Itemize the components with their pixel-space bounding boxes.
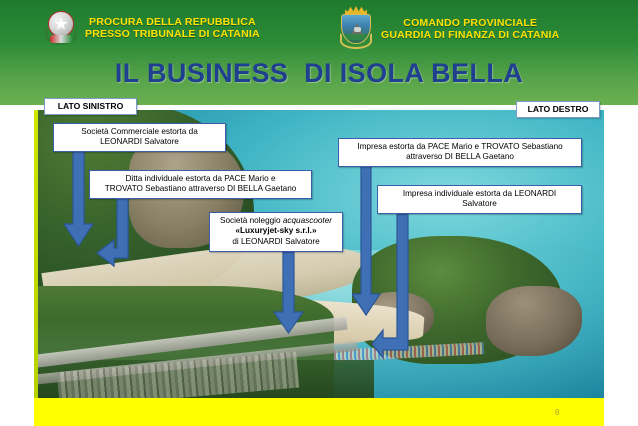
slide-canvas: PROCURA DELLA REPUBBLICA PRESSO TRIBUNAL… <box>0 0 638 426</box>
callout-right-1-line-2: attraverso DI BELLA Gaetano <box>344 152 576 162</box>
arrow-left-2 <box>95 196 137 268</box>
guardia-di-finanza-emblem-icon <box>338 6 374 52</box>
arrow-center <box>272 252 308 336</box>
callout-right-2-line-1: Impresa individuale estorta da LEONARDI <box>383 189 576 199</box>
tag-lato-sinistro: LATO SINISTRO <box>44 98 137 115</box>
callout-left-1-line-1: Società Commerciale estorta da <box>59 127 220 137</box>
gdf-org-text: COMANDO PROVINCIALE GUARDIA DI FINANZA D… <box>381 17 559 42</box>
procura-line-1: PROCURA DELLA REPUBBLICA <box>89 16 256 28</box>
procura-org-text: PROCURA DELLA REPUBBLICA PRESSO TRIBUNAL… <box>85 16 260 41</box>
page-number: 8 <box>555 408 559 417</box>
callout-left-ditta-individuale: Ditta individuale estorta da PACE Mario … <box>89 170 312 199</box>
italian-republic-emblem-icon <box>44 8 78 48</box>
page-title: IL BUSINESS DI ISOLA BELLA <box>0 58 638 89</box>
gdf-line-2: GUARDIA DI FINANZA DI CATANIA <box>381 29 559 42</box>
callout-right-1-line-1: Impresa estorta da PACE Mario e TROVATO … <box>344 142 576 152</box>
callout-center-line-1-prefix: Società noleggio <box>220 216 283 225</box>
callout-right-2-line-2: Salvatore <box>383 199 576 209</box>
callout-left-2-line-2: TROVATO Sebastiano attraverso DI BELLA G… <box>95 184 306 194</box>
tag-lato-destro: LATO DESTRO <box>516 101 600 118</box>
callout-left-2-line-1: Ditta individuale estorta da PACE Mario … <box>95 174 306 184</box>
header-group-gdf: COMANDO PROVINCIALE GUARDIA DI FINANZA D… <box>338 6 559 52</box>
callout-center-line-2: «Luxuryjet-sky s.r.l.» <box>215 226 337 236</box>
callout-center-societa-noleggio: Società noleggio acquascooter «Luxuryjet… <box>209 212 343 252</box>
footer-bar <box>34 398 604 426</box>
procura-line-2: PRESSO TRIBUNALE DI CATANIA <box>85 28 260 41</box>
callout-center-line-3: di LEONARDI Salvatore <box>215 237 337 247</box>
callout-left-societa-commerciale: Società Commerciale estorta da LEONARDI … <box>53 123 226 152</box>
header-group-procura: PROCURA DELLA REPUBBLICA PRESSO TRIBUNAL… <box>44 8 260 48</box>
callout-right-impresa-estorta: Impresa estorta da PACE Mario e TROVATO … <box>338 138 582 167</box>
arrow-left-1 <box>62 150 98 250</box>
callout-center-line-1: Società noleggio acquascooter <box>215 216 337 226</box>
callout-center-line-1-italic: acquascooter <box>283 216 332 225</box>
callout-right-impresa-individuale: Impresa individuale estorta da LEONARDI … <box>377 185 582 214</box>
gdf-line-1: COMANDO PROVINCIALE <box>403 17 537 29</box>
arrow-right-2 <box>372 214 416 360</box>
callout-left-1-line-2: LEONARDI Salvatore <box>59 137 220 147</box>
